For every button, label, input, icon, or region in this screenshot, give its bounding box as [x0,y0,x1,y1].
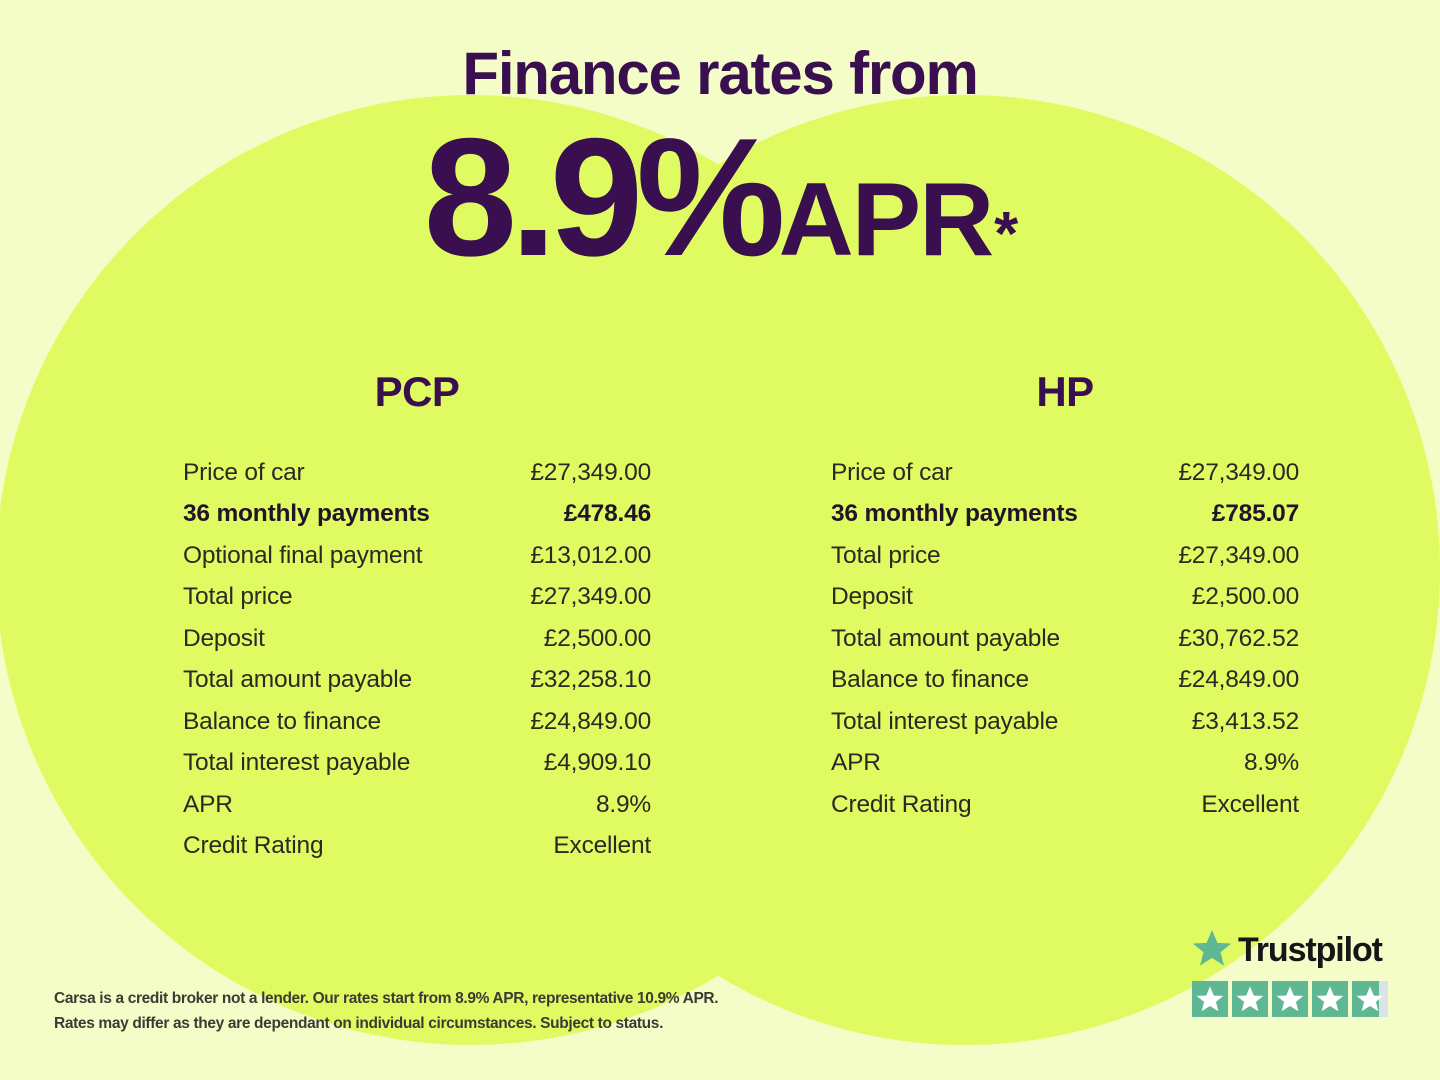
row-label: Credit Rating [183,834,323,859]
star-icon [1276,985,1304,1013]
table-row: Total price£27,349.00 [831,535,1299,577]
table-title-hp: HP [831,368,1299,416]
table-row: Total amount payable£30,762.52 [831,618,1299,660]
row-value: £4,909.10 [544,751,651,776]
finance-tables: PCP Price of car£27,349.0036 monthly pay… [0,368,1440,867]
row-value: £2,500.00 [1192,585,1299,610]
row-label: APR [183,793,233,818]
table-title-pcp: PCP [183,368,651,416]
row-value: £13,012.00 [530,544,651,569]
row-label: Total amount payable [831,627,1060,652]
headline-asterisk: * [994,200,1018,269]
finance-table-hp: HP Price of car£27,349.0036 monthly paym… [831,368,1299,867]
table-row: Deposit£2,500.00 [831,577,1299,619]
row-label: APR [831,751,881,776]
table-rows-pcp: Price of car£27,349.0036 monthly payment… [183,452,651,867]
table-row: Total interest payable£3,413.52 [831,701,1299,743]
table-row: Optional final payment£13,012.00 [183,535,651,577]
row-label: Price of car [831,461,953,486]
trustpilot-star-rating [1192,981,1396,1017]
disclaimer-text: Carsa is a credit broker not a lender. O… [54,986,814,1036]
row-label: Total price [183,585,292,610]
row-value: £27,349.00 [1178,461,1299,486]
trustpilot-wordmark: Trustpilot [1238,933,1382,967]
table-row: Deposit£2,500.00 [183,618,651,660]
trustpilot-logo: Trustpilot [1192,928,1396,972]
row-label: Credit Rating [831,793,971,818]
table-row: Balance to finance£24,849.00 [831,660,1299,702]
table-row: APR8.9% [831,743,1299,785]
row-label: Deposit [183,627,265,652]
row-value: £32,258.10 [530,668,651,693]
table-row: Total interest payable£4,909.10 [183,743,651,785]
row-label: Total interest payable [183,751,410,776]
row-label: Total amount payable [183,668,412,693]
row-value: £27,349.00 [530,585,651,610]
headline-block: Finance rates from 8.9%APR* [0,0,1440,281]
row-label: Optional final payment [183,544,422,569]
trustpilot-star-box [1192,981,1228,1017]
row-label: Balance to finance [831,668,1029,693]
row-label: Price of car [183,461,305,486]
row-label: Balance to finance [183,710,381,735]
star-icon [1356,985,1384,1013]
table-row: Total price£27,349.00 [183,577,651,619]
table-row: 36 monthly payments£785.07 [831,494,1299,536]
table-row: Total amount payable£32,258.10 [183,660,651,702]
trustpilot-star-box [1352,981,1388,1017]
table-row: Price of car£27,349.00 [183,452,651,494]
headline-subtitle: Finance rates from [0,42,1440,105]
disclaimer-line-1: Carsa is a credit broker not a lender. O… [54,986,814,1011]
headline-apr-label: APR [779,162,993,278]
row-label: Deposit [831,585,913,610]
trustpilot-widget[interactable]: Trustpilot [1192,928,1396,1017]
table-row: Balance to finance£24,849.00 [183,701,651,743]
row-label: Total price [831,544,940,569]
row-value: 8.9% [596,793,651,818]
table-row: Credit RatingExcellent [831,784,1299,826]
disclaimer-line-2: Rates may differ as they are dependant o… [54,1011,814,1036]
row-value: £478.46 [564,502,651,527]
trustpilot-star-box [1312,981,1348,1017]
star-icon [1316,985,1344,1013]
finance-table-pcp: PCP Price of car£27,349.0036 monthly pay… [183,368,651,867]
row-value: £24,849.00 [530,710,651,735]
row-value: £3,413.52 [1192,710,1299,735]
table-row: 36 monthly payments£478.46 [183,494,651,536]
row-value: £27,349.00 [1178,544,1299,569]
star-icon [1236,985,1264,1013]
table-row: Credit RatingExcellent [183,826,651,868]
star-icon [1196,985,1224,1013]
row-value: £24,849.00 [1178,668,1299,693]
row-label: 36 monthly payments [831,502,1078,527]
row-label: 36 monthly payments [183,502,430,527]
trustpilot-star-box [1272,981,1308,1017]
poster-canvas: Finance rates from 8.9%APR* PCP Price of… [0,0,1440,1080]
row-label: Total interest payable [831,710,1058,735]
row-value: £30,762.52 [1178,627,1299,652]
row-value: Excellent [1201,793,1299,818]
headline-main: 8.9%APR* [0,113,1440,281]
trustpilot-star-box [1232,981,1268,1017]
row-value: 8.9% [1244,751,1299,776]
table-rows-hp: Price of car£27,349.0036 monthly payment… [831,452,1299,826]
row-value: £27,349.00 [530,461,651,486]
trustpilot-star-icon [1192,929,1232,972]
row-value: Excellent [553,834,651,859]
table-row: APR8.9% [183,784,651,826]
row-value: £2,500.00 [544,627,651,652]
row-value: £785.07 [1212,502,1299,527]
table-row: Price of car£27,349.00 [831,452,1299,494]
headline-rate-value: 8.9% [424,103,779,291]
